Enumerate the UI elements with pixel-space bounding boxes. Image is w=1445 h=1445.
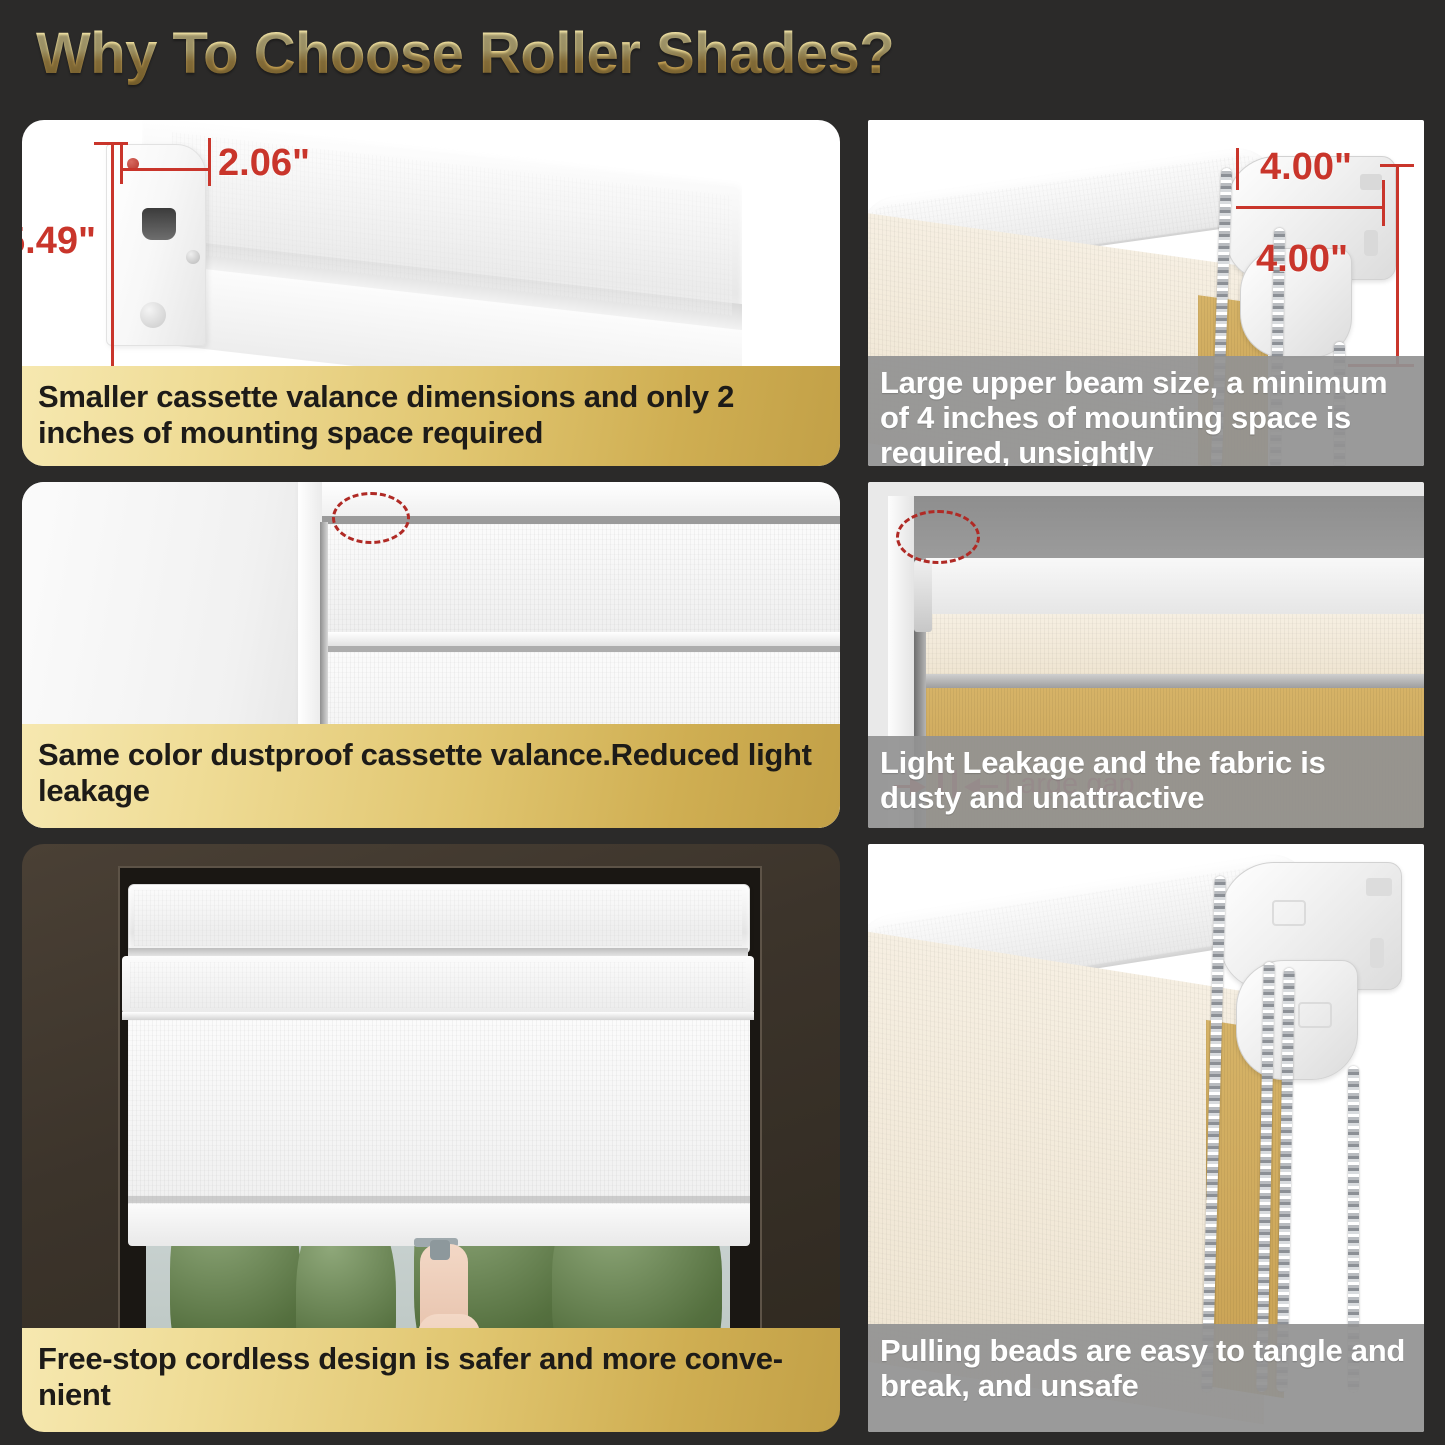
panel-middle-right[interactable]: Large gap Light Leakage and the fabric i…: [868, 482, 1424, 828]
highlight-ellipse: [332, 492, 410, 544]
caption-middle-left: Same color dustproof cassette valance.Re…: [22, 724, 840, 828]
caption-bottom-left: Free-stop cordless design is safer and m…: [22, 1328, 840, 1432]
panel-middle-left[interactable]: smaller gap Same color dustproof cassett…: [22, 482, 840, 828]
panel-top-left[interactable]: 2.06" 5.49" Smaller cassette valance dim…: [22, 120, 840, 466]
dim-line-width: [1236, 206, 1384, 209]
dimension-label-height-right: 4.00": [1256, 238, 1348, 281]
dimension-label-height: 5.49": [22, 220, 96, 263]
highlight-ellipse: [896, 510, 980, 564]
page-header: Why To Choose Roller Shades?: [0, 0, 1445, 106]
panel-top-right[interactable]: 4.00" 4.00" Large upper beam size, a min…: [868, 120, 1424, 466]
caption-top-left: Smaller cassette valance dimensions and …: [22, 366, 840, 466]
caption-bottom-left-line2: nient: [38, 1377, 111, 1412]
dim-line-width: [120, 168, 210, 171]
panel-bottom-left[interactable]: Free-stop cordless design is safer and m…: [22, 844, 840, 1432]
dimension-label-width-top: 4.00": [1260, 146, 1352, 189]
caption-middle-right: Light Leakage and the fabric is dusty an…: [868, 736, 1424, 828]
page-title: Why To Choose Roller Shades?: [36, 20, 894, 87]
caption-bottom-right: Pulling beads are easy to tangle and bre…: [868, 1324, 1424, 1432]
caption-top-right: Large upper beam size, a minimum of 4 in…: [868, 356, 1424, 466]
caption-bottom-left-line1: Free-stop cordless design is safer and m…: [38, 1341, 783, 1376]
dim-tick-left: [120, 142, 123, 184]
dimension-label-width: 2.06": [218, 142, 310, 185]
caption-top-right-text: Large upper beam size, a minimum of 4 in…: [880, 365, 1387, 466]
dim-tick-right: [208, 138, 211, 186]
caption-middle-right-text: Light Leakage and the fabric is dusty an…: [880, 745, 1325, 815]
caption-top-left-text: Smaller cassette valance dimensions and …: [38, 379, 734, 450]
comparison-grid: 2.06" 5.49" Smaller cassette valance dim…: [0, 106, 1445, 1445]
dim-line-height: [1396, 164, 1399, 366]
dim-tick-top: [94, 142, 128, 145]
caption-middle-left-text: Same color dustproof cassette valance.Re…: [38, 737, 812, 808]
panel-bottom-right[interactable]: Pulling beads are easy to tangle and bre…: [868, 844, 1424, 1432]
caption-bottom-right-text: Pulling beads are easy to tangle and bre…: [880, 1333, 1405, 1403]
